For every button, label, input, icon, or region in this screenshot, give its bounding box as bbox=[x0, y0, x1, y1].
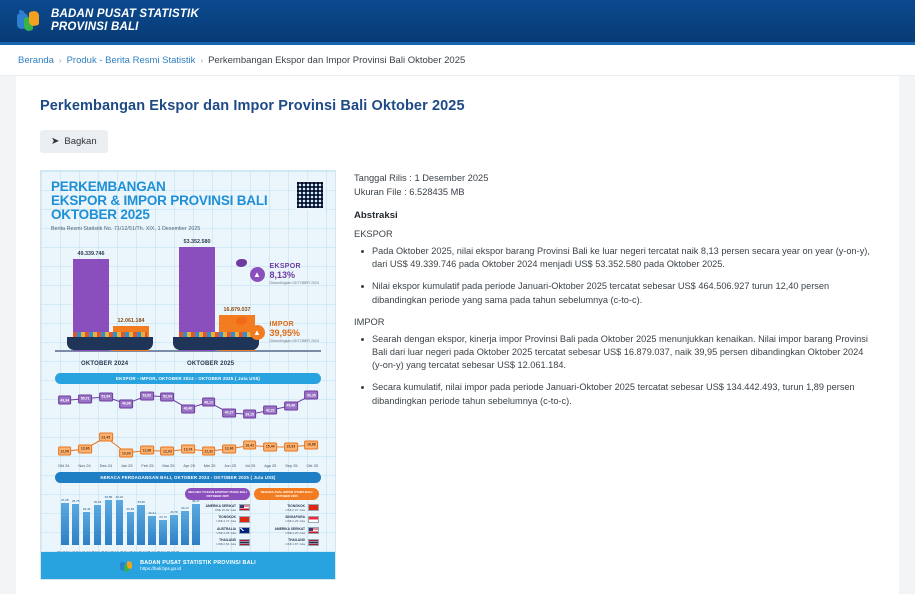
ekspor-points: Pada Oktober 2025, nilai ekspor barang P… bbox=[354, 245, 875, 307]
balance-bar-value-9: 22,73 bbox=[159, 515, 167, 519]
import-country-value-0: US$ 2,97 Juta bbox=[285, 508, 305, 512]
balance-bar-7: 35,80 bbox=[137, 505, 145, 545]
cn-flag-icon bbox=[239, 516, 250, 523]
ship-illustration-2025 bbox=[173, 337, 259, 350]
us-flag-icon bbox=[308, 527, 319, 534]
th-flag-icon bbox=[308, 539, 319, 546]
import-country-list: NEGARA ASAL IMPOR UTAMA BALI OKTOBER 202… bbox=[254, 488, 319, 554]
infographic-title-line-2: EKSPOR & IMPOR PROVINSI BALI bbox=[51, 194, 325, 208]
balance-bar-value-5: 40,01 bbox=[116, 495, 124, 499]
balance-bar-6: 29,66 bbox=[127, 512, 135, 545]
line-point-export-12: 53,35 bbox=[304, 391, 318, 400]
bps-footer-logo-icon bbox=[120, 559, 134, 573]
balance-bar-value-0: 37,28 bbox=[61, 498, 69, 502]
infographic-footer-url: https://bali.bps.go.id bbox=[140, 566, 256, 571]
section-heading-impor: IMPOR bbox=[354, 317, 875, 327]
line-point-import-8: 13,96 bbox=[222, 444, 236, 453]
export-country-name-0: AMERIKA SERIKAT bbox=[206, 504, 236, 508]
line-chart-x-label-7: Mei 25 bbox=[204, 463, 216, 468]
list-item: Secara kumulatif, nilai impor pada perio… bbox=[354, 381, 875, 407]
export-country-value-2: US$ 4,35 Juta bbox=[216, 531, 236, 535]
infographic-image[interactable]: PERKEMBANGAN EKSPOR & IMPOR PROVINSI BAL… bbox=[40, 170, 336, 580]
line-chart: 49,3450,7151,9446,9652,8252,0443,4048,12… bbox=[57, 389, 319, 461]
line-point-export-5: 52,04 bbox=[161, 392, 175, 401]
site-header: BADAN PUSAT STATISTIK PROVINSI BALI bbox=[0, 0, 915, 45]
balance-bar-12: 36,47 bbox=[192, 504, 200, 545]
badge-export-note: Dibandingkan OKTOBER 2024 bbox=[270, 281, 319, 285]
line-point-export-4: 52,82 bbox=[140, 391, 154, 400]
list-item: Searah dengan ekspor, kinerja impor Prov… bbox=[354, 333, 875, 373]
export-country-value-0: US$ 15,99 Juta bbox=[206, 508, 236, 512]
line-point-export-7: 48,12 bbox=[202, 398, 216, 407]
cn-flag-icon bbox=[308, 504, 319, 511]
bar-import-2025-value: 16.879.037 bbox=[224, 307, 251, 313]
share-button[interactable]: ➤ Bagkan bbox=[40, 130, 108, 153]
balance-bar-value-7: 35,80 bbox=[137, 500, 145, 504]
line-point-import-7: 12,32 bbox=[202, 447, 216, 456]
badge-export: ▲ EKSPOR 8,13% Dibandingkan OKTOBER 2024 bbox=[250, 263, 319, 285]
balance-bar-11: 30,13 bbox=[181, 511, 189, 545]
badge-import: ▲ IMPOR 39,95% Dibandingkan OKTOBER 2024 bbox=[250, 321, 319, 343]
balance-chart-banner: NERACA PERDAGANGAN BALI, OKTOBER 2024 - … bbox=[55, 472, 321, 483]
badge-import-label: IMPOR bbox=[270, 321, 319, 328]
infographic-title-line-1: PERKEMBANGAN bbox=[51, 180, 325, 194]
line-point-import-6: 13,74 bbox=[181, 445, 195, 454]
breadcrumb: Beranda › Produk - Berita Resmi Statisti… bbox=[0, 45, 915, 76]
country-row: TIONGKOKUS$ 2,97 Juta bbox=[254, 504, 319, 512]
balance-bar-value-4: 39,86 bbox=[105, 495, 113, 499]
line-point-export-1: 50,71 bbox=[78, 394, 92, 403]
badge-import-percent: 39,95% bbox=[270, 328, 319, 338]
infographic-footer: BADAN PUSAT STATISTIK PROVINSI BALI http… bbox=[41, 552, 335, 579]
line-chart-x-label-2: Des 24 bbox=[100, 463, 112, 468]
bar-import-2024-value: 12.061.184 bbox=[118, 318, 145, 324]
line-chart-x-label-8: Jun 25 bbox=[224, 463, 236, 468]
balance-bar-0: 37,28 bbox=[61, 503, 69, 545]
import-country-value-2: US$ 2,20 Juta bbox=[275, 531, 305, 535]
line-point-export-2: 51,94 bbox=[99, 392, 113, 401]
line-chart-banner: EKSPOR - IMPOR, OKTOBER 2024 - OKTOBER 2… bbox=[55, 373, 321, 384]
infographic-title-line-3: OKTOBER 2025 bbox=[51, 208, 325, 222]
line-point-export-9: 39,15 bbox=[243, 410, 257, 419]
impor-points: Searah dengan ekspor, kinerja impor Prov… bbox=[354, 333, 875, 408]
breadcrumb-separator: › bbox=[59, 56, 62, 65]
export-country-name-2: AUSTRALIA bbox=[216, 527, 236, 531]
page-title: Perkembangan Ekspor dan Impor Provinsi B… bbox=[40, 98, 875, 114]
content-columns: PERKEMBANGAN EKSPOR & IMPOR PROVINSI BAL… bbox=[40, 170, 875, 580]
line-point-import-2: 22,45 bbox=[99, 433, 113, 442]
line-point-import-3: 10,93 bbox=[119, 449, 133, 458]
line-point-import-9: 16,42 bbox=[243, 441, 257, 450]
line-point-import-10: 15,44 bbox=[263, 442, 277, 451]
balance-bar-2: 29,49 bbox=[83, 512, 91, 545]
share-arrow-icon: ➤ bbox=[51, 136, 59, 147]
breadcrumb-item-beranda[interactable]: Beranda bbox=[18, 55, 54, 66]
import-badge-icon: ▲ bbox=[250, 325, 265, 340]
list-item: Nilai ekspor kumulatif pada periode Janu… bbox=[354, 280, 875, 306]
balance-bar-value-11: 30,13 bbox=[181, 506, 189, 510]
country-row: AMERIKA SERIKATUS$ 2,20 Juta bbox=[254, 527, 319, 535]
brand-title: BADAN PUSAT STATISTIK PROVINSI BALI bbox=[51, 8, 199, 35]
balance-bar-5: 40,01 bbox=[116, 500, 124, 545]
line-point-export-6: 43,40 bbox=[181, 404, 195, 413]
line-point-export-3: 46,96 bbox=[119, 399, 133, 408]
file-size: Ukuran File : 6.528435 MB bbox=[354, 186, 875, 200]
line-point-export-0: 49,34 bbox=[58, 396, 72, 405]
export-badge-icon: ▲ bbox=[250, 267, 265, 282]
section-heading-ekspor: EKSPOR bbox=[354, 229, 875, 239]
line-chart-x-label-5: Mar 25 bbox=[162, 463, 174, 468]
import-country-name-2: AMERIKA SERIKAT bbox=[275, 527, 305, 531]
share-button-label: Bagkan bbox=[64, 136, 96, 147]
bar-caption-2024: OKTOBER 2024 bbox=[81, 361, 128, 367]
import-country-name-0: TIONGKOK bbox=[285, 504, 305, 508]
balance-bar-chart: Okt 24Nov 24Des 24Jan 25Feb 25Mar 25Apr … bbox=[57, 488, 179, 554]
bar-export-2024-value: 49.339.746 bbox=[78, 251, 105, 257]
page-background: Perkembangan Ekspor dan Impor Provinsi B… bbox=[0, 76, 915, 594]
line-chart-x-label-4: Feb 25 bbox=[141, 463, 153, 468]
abstract-column: Tanggal Rilis : 1 Desember 2025 Ukuran F… bbox=[354, 170, 875, 580]
country-row: THAILANDUS$ 1,87 Juta bbox=[254, 538, 319, 546]
line-point-export-10: 42,22 bbox=[263, 406, 277, 415]
line-point-import-4: 12,96 bbox=[140, 446, 154, 455]
export-arrow-icon bbox=[236, 259, 247, 267]
export-country-value-1: US$ 4,72 Juta bbox=[216, 519, 236, 523]
release-date: Tanggal Rilis : 1 Desember 2025 bbox=[354, 172, 875, 186]
line-point-import-0: 12,06 bbox=[58, 447, 72, 456]
infographic-subtitle: Berita Resmi Statistik No. 71/12/51/Th. … bbox=[51, 226, 325, 232]
export-country-value-3: US$ 2,64 Juta bbox=[216, 542, 236, 546]
main-bar-chart: 49.339.746 12.061.184 OKTOBER 2024 5 bbox=[51, 239, 325, 369]
balance-bar-value-3: 36,03 bbox=[94, 500, 102, 504]
brand-line-2: PROVINSI BALI bbox=[51, 21, 199, 35]
country-lists: NEGARA TUJUAN EKSPOR UTAMA BALI OKTOBER … bbox=[185, 488, 319, 554]
line-chart-x-axis: Okt 24Nov 24Des 24Jan 25Feb 25Mar 25Apr … bbox=[58, 463, 318, 468]
sg-flag-icon bbox=[308, 516, 319, 523]
balance-bar-value-12: 36,47 bbox=[192, 499, 200, 503]
us-flag-icon bbox=[239, 504, 250, 511]
line-point-import-11: 15,33 bbox=[284, 442, 298, 451]
breadcrumb-item-current: Perkembangan Ekspor dan Impor Provinsi B… bbox=[208, 55, 465, 66]
breadcrumb-item-produk[interactable]: Produk - Berita Resmi Statistik bbox=[67, 55, 196, 66]
line-chart-x-label-11: Sep 25 bbox=[285, 463, 297, 468]
line-chart-x-label-9: Jul 25 bbox=[245, 463, 255, 468]
au-flag-icon bbox=[239, 527, 250, 534]
balance-bar-value-2: 29,49 bbox=[83, 507, 91, 511]
line-chart-x-label-10: Ags 25 bbox=[264, 463, 276, 468]
line-chart-x-label-12: Okt 25 bbox=[306, 463, 317, 468]
infographic-column: PERKEMBANGAN EKSPOR & IMPOR PROVINSI BAL… bbox=[40, 170, 336, 580]
abstract-heading: Abstraksi bbox=[354, 210, 875, 221]
balance-bar-8: 26,31 bbox=[148, 516, 156, 545]
balance-bar-1: 36,75 bbox=[72, 504, 80, 545]
balance-bar-9: 22,73 bbox=[159, 520, 167, 545]
ship-illustration-2024 bbox=[67, 337, 153, 350]
line-chart-x-label-1: Nov 24 bbox=[78, 463, 90, 468]
balance-bar-10: 26,78 bbox=[170, 515, 178, 545]
line-point-export-8: 40,27 bbox=[222, 408, 236, 417]
breadcrumb-separator: › bbox=[200, 56, 203, 65]
list-item: Pada Oktober 2025, nilai ekspor barang P… bbox=[354, 245, 875, 271]
line-chart-x-label-3: Jan 25 bbox=[121, 463, 133, 468]
bar-export-2025-value: 53.352.580 bbox=[184, 239, 211, 245]
import-country-value-1: US$ 2,29 Juta bbox=[285, 519, 305, 523]
line-chart-x-label-0: Okt 24 bbox=[58, 463, 69, 468]
balance-bar-value-10: 26,78 bbox=[170, 510, 178, 514]
infographic-title: PERKEMBANGAN EKSPOR & IMPOR PROVINSI BAL… bbox=[51, 180, 325, 222]
balance-bar-4: 39,86 bbox=[105, 500, 113, 545]
qr-code-icon bbox=[295, 180, 325, 210]
line-point-import-1: 13,96 bbox=[78, 444, 92, 453]
line-chart-x-label-6: Apr 25 bbox=[183, 463, 194, 468]
brand-line-1: BADAN PUSAT STATISTIK bbox=[51, 8, 199, 22]
line-point-export-11: 45,46 bbox=[284, 401, 298, 410]
badge-export-percent: 8,13% bbox=[270, 270, 319, 280]
content-card: Perkembangan Ekspor dan Impor Provinsi B… bbox=[16, 76, 899, 594]
th-flag-icon bbox=[239, 539, 250, 546]
bps-logo-icon bbox=[16, 8, 42, 34]
line-point-import-5: 12,03 bbox=[161, 447, 175, 456]
country-row: SINGAPURAUS$ 2,29 Juta bbox=[254, 515, 319, 523]
badge-export-label: EKSPOR bbox=[270, 263, 319, 270]
balance-bar-3: 36,03 bbox=[94, 505, 102, 545]
badge-import-note: Dibandingkan OKTOBER 2024 bbox=[270, 339, 319, 343]
balance-bar-value-6: 29,66 bbox=[127, 507, 135, 511]
import-country-value-3: US$ 1,87 Juta bbox=[285, 542, 305, 546]
line-point-import-12: 16,88 bbox=[304, 440, 318, 449]
import-country-header: NEGARA ASAL IMPOR UTAMA BALI OKTOBER 202… bbox=[254, 488, 319, 500]
balance-bar-value-8: 26,31 bbox=[148, 511, 156, 515]
bar-caption-2025: OKTOBER 2025 bbox=[187, 361, 234, 367]
balance-bar-value-1: 36,75 bbox=[72, 499, 80, 503]
